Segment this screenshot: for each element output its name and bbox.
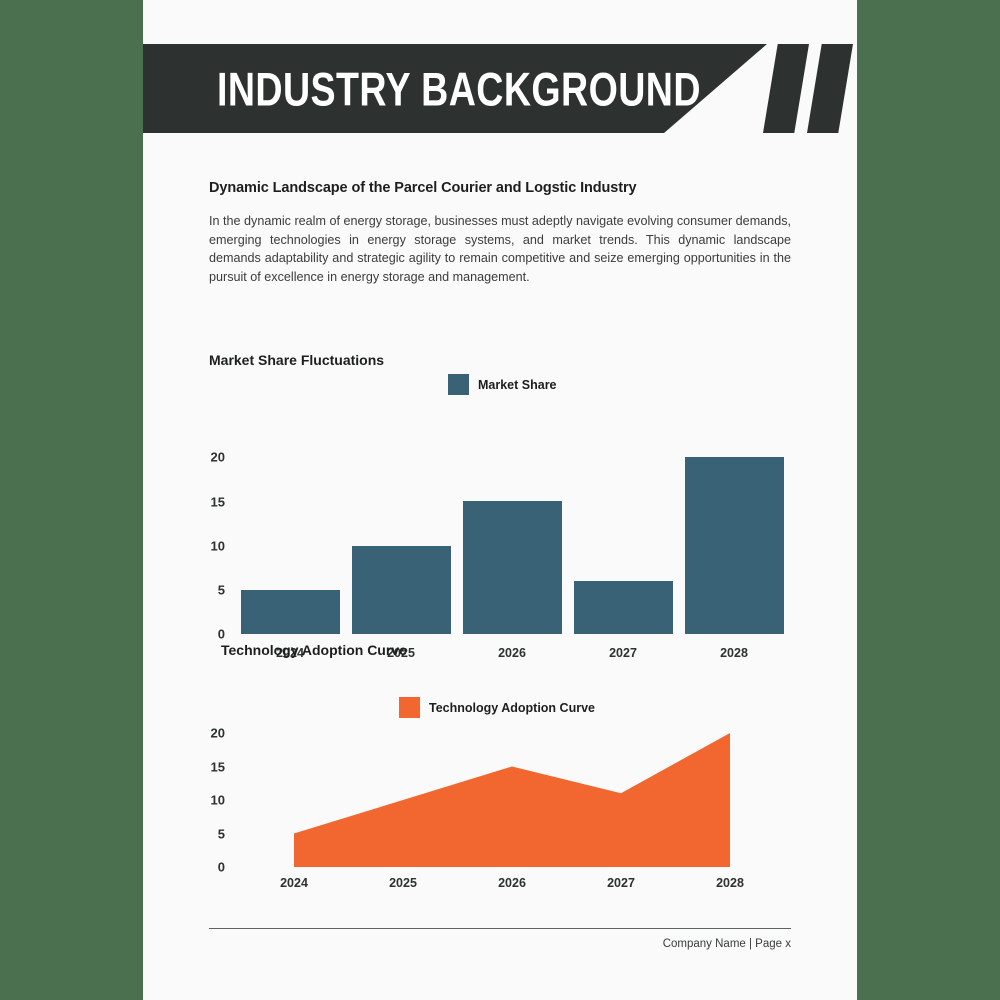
bar-x-tick-2027: 2027 bbox=[609, 646, 637, 660]
area-chart-title: Technology Adoption Curve bbox=[221, 642, 407, 658]
footer-divider bbox=[209, 928, 791, 929]
page-header-banner: INDUSTRY BACKGROUND bbox=[143, 44, 857, 133]
footer-text: Company Name | Page x bbox=[209, 938, 791, 950]
bar-chart-title: Market Share Fluctuations bbox=[209, 352, 384, 368]
bar-y-tick-15: 15 bbox=[173, 495, 225, 510]
area-series-technology-adoption bbox=[143, 724, 857, 894]
bar-y-tick-5: 5 bbox=[173, 583, 225, 598]
area-chart-plot: 20 15 10 5 0 2024 2025 2026 2027 2028 bbox=[143, 724, 857, 894]
bar-chart-legend: Market Share bbox=[448, 374, 557, 395]
bar-x-tick-2028: 2028 bbox=[720, 646, 748, 660]
area-x-tick-2027: 2027 bbox=[607, 876, 635, 890]
table-row[interactable] bbox=[352, 546, 451, 635]
bar-series-market-share bbox=[241, 457, 791, 634]
legend-label-market-share: Market Share bbox=[478, 378, 557, 392]
table-row[interactable] bbox=[241, 590, 340, 634]
intro-paragraph: In the dynamic realm of energy storage, … bbox=[209, 212, 791, 286]
area-chart-legend: Technology Adoption Curve bbox=[399, 697, 595, 718]
area-x-tick-2026: 2026 bbox=[498, 876, 526, 890]
legend-swatch-technology-adoption bbox=[399, 697, 420, 718]
bar-chart-plot: 20 15 10 5 0 2024 2025 2026 2027 2028 bbox=[143, 400, 857, 590]
bar-y-tick-10: 10 bbox=[173, 539, 225, 554]
area-x-tick-2024: 2024 bbox=[280, 876, 308, 890]
intro-heading: Dynamic Landscape of the Parcel Courier … bbox=[209, 180, 791, 196]
table-row[interactable] bbox=[685, 457, 784, 634]
intro-section: Dynamic Landscape of the Parcel Courier … bbox=[209, 180, 791, 286]
table-row[interactable] bbox=[463, 501, 562, 634]
area-x-tick-2028: 2028 bbox=[716, 876, 744, 890]
area-x-tick-2025: 2025 bbox=[389, 876, 417, 890]
header-slash-decoration-1 bbox=[763, 44, 809, 133]
page-footer: Company Name | Page x bbox=[209, 928, 791, 950]
bar-y-tick-0: 0 bbox=[173, 627, 225, 642]
document-page: INDUSTRY BACKGROUND Dynamic Landscape of… bbox=[143, 0, 857, 1000]
page-title: INDUSTRY BACKGROUND bbox=[217, 65, 701, 112]
table-row[interactable] bbox=[574, 581, 673, 634]
bar-x-tick-2026: 2026 bbox=[498, 646, 526, 660]
header-slash-decoration-2 bbox=[807, 44, 853, 133]
bar-y-tick-20: 20 bbox=[173, 450, 225, 465]
legend-swatch-market-share bbox=[448, 374, 469, 395]
legend-label-technology-adoption: Technology Adoption Curve bbox=[429, 701, 595, 715]
